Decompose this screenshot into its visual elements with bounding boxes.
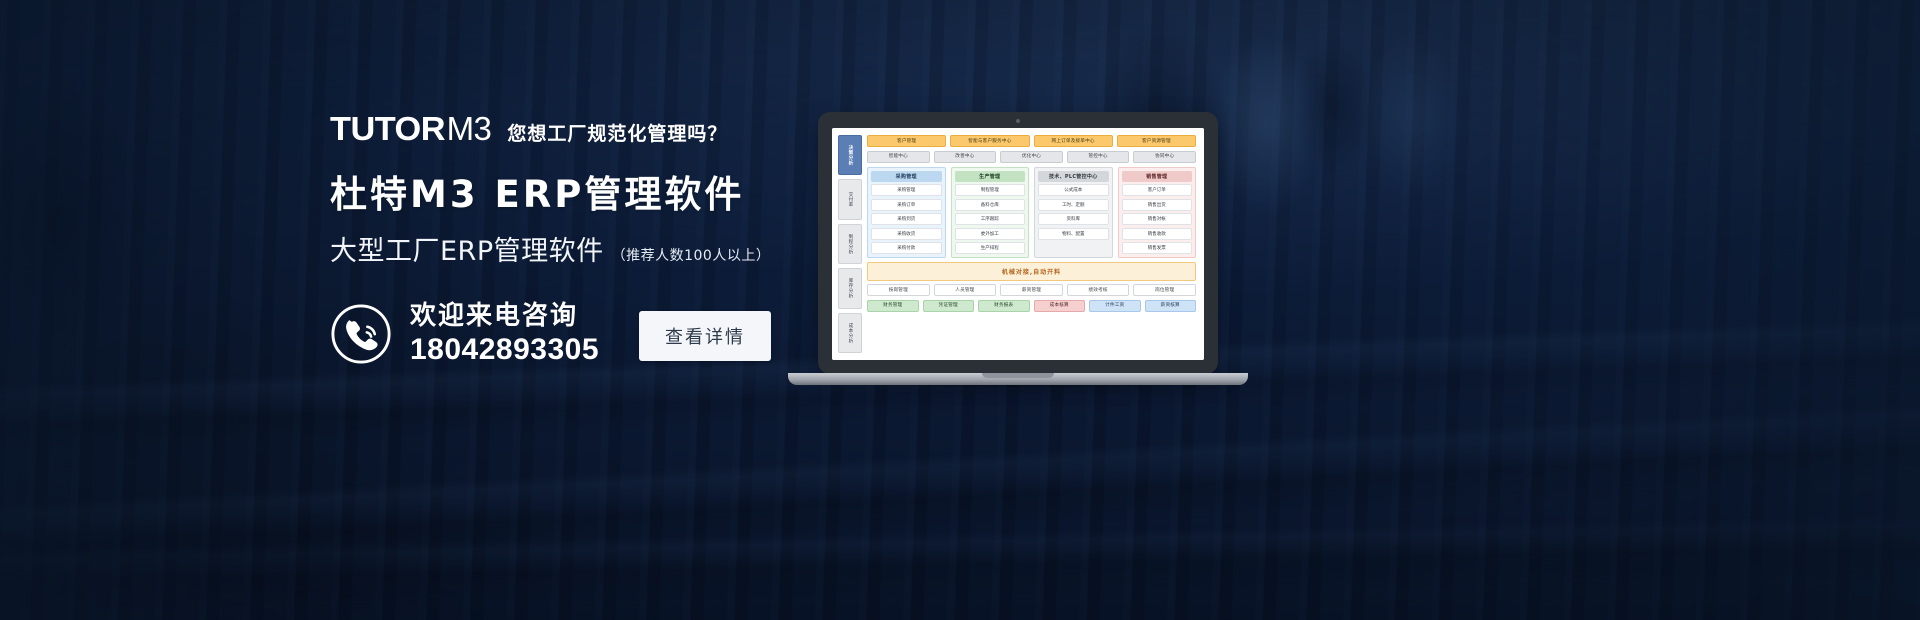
erp-rail-item: 交付率 [838, 179, 862, 219]
erp-chip: 按岗管理 [867, 284, 930, 296]
erp-column-item: 采购管理 [871, 184, 942, 196]
brand-row: TUTOR M3 您想工厂规范化管理吗？ [330, 112, 850, 152]
erp-column-item: 工序跟踪 [955, 213, 1026, 225]
erp-highlight-strip: 机械对接,自动开料 [867, 262, 1196, 281]
erp-chip: 成本核算 [1034, 300, 1086, 312]
erp-column-item: 委外加工 [955, 228, 1026, 240]
laptop-notch [982, 373, 1054, 378]
banner-tagline: 您想工厂规范化管理吗？ [507, 125, 727, 144]
erp-chip: 客户资源管理 [1117, 135, 1196, 147]
erp-module-column: 生产管理 制程管理 备料仓库 工序跟踪 委外加工 生产排程 [951, 167, 1030, 259]
erp-column-title: 技术、PLC管控中心 [1038, 171, 1109, 182]
erp-row-lower: 按岗管理 人员管理 薪资管理 绩效考核 岗位管理 [867, 284, 1196, 296]
erp-column-item: 采购收货 [871, 228, 942, 240]
laptop-camera-icon [1016, 119, 1020, 123]
laptop-screen: 决策分析 交付率 制程分析 库存分析 成本分析 客户管理 智能与客户服务中心 网… [832, 128, 1204, 360]
erp-chip: 管控中心 [1067, 151, 1130, 163]
banner-subline: 大型工厂ERP管理软件 [330, 237, 604, 267]
erp-column-item: 采购到货 [871, 213, 942, 225]
erp-chip: 凭证管理 [923, 300, 975, 312]
erp-chip: 协同中心 [1133, 151, 1196, 163]
contact-row: 欢迎来电咨询 18042893305 查看详情 [330, 303, 850, 365]
erp-column-title: 采购管理 [871, 171, 942, 182]
erp-module-columns: 采购管理 采购管理 采购订单 采购到货 采购收货 采购付款 生产管理 制程管理 … [867, 167, 1196, 259]
erp-rail-item: 制程分析 [838, 224, 862, 264]
erp-column-item: 制程管理 [955, 184, 1026, 196]
erp-body: 客户管理 智能与客户服务中心 网上订单及接单中心 客户资源管理 智能中心 改善中… [867, 135, 1196, 353]
erp-column-item: 资料库 [1038, 213, 1109, 225]
erp-column-item: 客户订单 [1122, 184, 1193, 196]
erp-column-title: 生产管理 [955, 171, 1026, 182]
erp-sidebar-rail: 决策分析 交付率 制程分析 库存分析 成本分析 [838, 135, 862, 353]
hero-banner: TUTOR M3 您想工厂规范化管理吗？ 杜特M3 ERP管理软件 大型工厂ER… [0, 0, 1920, 620]
phone-text-block: 欢迎来电咨询 18042893305 [410, 303, 599, 365]
phone-call-icon [330, 303, 392, 365]
view-details-button[interactable]: 查看详情 [639, 311, 771, 361]
erp-row-top: 客户管理 智能与客户服务中心 网上订单及接单中心 客户资源管理 [867, 135, 1196, 147]
erp-column-item: 公式成本 [1038, 184, 1109, 196]
erp-chip: 人员管理 [934, 284, 997, 296]
erp-column-item: 物料、配置 [1038, 228, 1109, 240]
erp-column-item: 销售发票 [1122, 242, 1193, 254]
contact-label: 欢迎来电咨询 [410, 303, 599, 329]
erp-chip: 计件工资 [1089, 300, 1141, 312]
erp-column-item: 销售出货 [1122, 199, 1193, 211]
erp-chip: 改善中心 [934, 151, 997, 163]
erp-chip: 智能中心 [867, 151, 930, 163]
erp-chip: 优化中心 [1000, 151, 1063, 163]
banner-subline-note: （推荐人数100人以上） [612, 245, 771, 265]
laptop-lid: 决策分析 交付率 制程分析 库存分析 成本分析 客户管理 智能与客户服务中心 网… [818, 112, 1218, 374]
erp-column-title: 销售管理 [1122, 171, 1193, 182]
banner-text-column: TUTOR M3 您想工厂规范化管理吗？ 杜特M3 ERP管理软件 大型工厂ER… [330, 112, 850, 365]
erp-column-item: 生产排程 [955, 242, 1026, 254]
erp-chip: 财务管理 [867, 300, 919, 312]
erp-column-item: 销售对帐 [1122, 213, 1193, 225]
banner-headline: 杜特M3 ERP管理软件 [330, 174, 850, 215]
contact-phone-number[interactable]: 18042893305 [410, 335, 599, 365]
erp-rail-item: 成本分析 [838, 313, 862, 353]
erp-column-item: 备料仓库 [955, 199, 1026, 211]
erp-column-item: 销售收款 [1122, 228, 1193, 240]
erp-row-second: 智能中心 改善中心 优化中心 管控中心 协同中心 [867, 151, 1196, 163]
brand-logo-tutor: TUTOR [330, 112, 445, 145]
brand-logo-m3: M3 [447, 112, 492, 145]
erp-chip: 薪资核算 [1145, 300, 1197, 312]
banner-subline-row: 大型工厂ERP管理软件 （推荐人数100人以上） [330, 237, 850, 267]
erp-row-bottom: 财务管理 凭证管理 财务报表 成本核算 计件工资 薪资核算 [867, 300, 1196, 312]
erp-chip: 岗位管理 [1133, 284, 1196, 296]
erp-chip: 薪资管理 [1000, 284, 1063, 296]
erp-chip: 网上订单及接单中心 [1034, 135, 1113, 147]
laptop-mockup: 决策分析 交付率 制程分析 库存分析 成本分析 客户管理 智能与客户服务中心 网… [788, 112, 1248, 402]
erp-chip: 绩效考核 [1067, 284, 1130, 296]
erp-rail-item: 决策分析 [838, 135, 862, 175]
erp-diagram: 决策分析 交付率 制程分析 库存分析 成本分析 客户管理 智能与客户服务中心 网… [832, 128, 1204, 360]
erp-column-item: 工时、定额 [1038, 199, 1109, 211]
erp-module-column: 技术、PLC管控中心 公式成本 工时、定额 资料库 物料、配置 [1034, 167, 1113, 259]
laptop-shadow [798, 385, 1238, 392]
erp-chip: 财务报表 [978, 300, 1030, 312]
erp-rail-item: 库存分析 [838, 268, 862, 308]
erp-column-item: 采购付款 [871, 242, 942, 254]
erp-chip: 客户管理 [867, 135, 946, 147]
erp-module-column: 销售管理 客户订单 销售出货 销售对帐 销售收款 销售发票 [1118, 167, 1197, 259]
erp-module-column: 采购管理 采购管理 采购订单 采购到货 采购收货 采购付款 [867, 167, 946, 259]
erp-column-item: 采购订单 [871, 199, 942, 211]
erp-chip: 智能与客户服务中心 [950, 135, 1029, 147]
